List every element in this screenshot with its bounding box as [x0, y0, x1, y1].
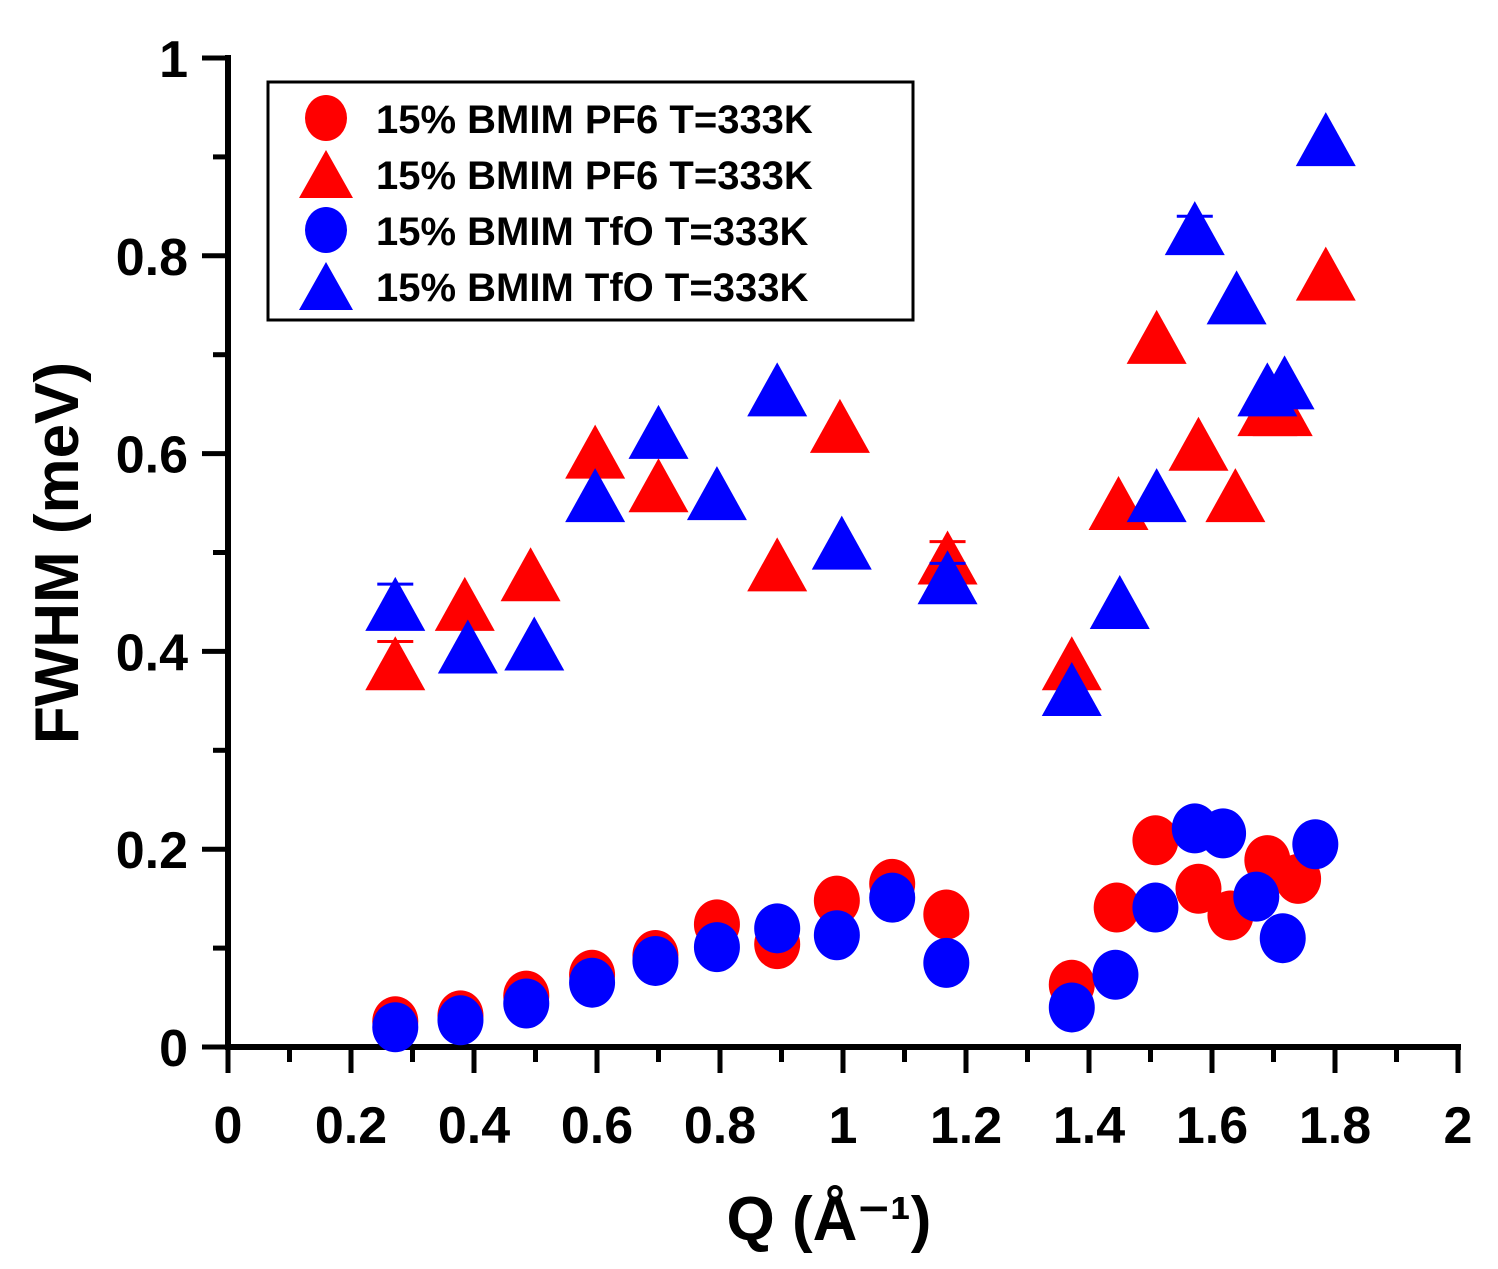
- series-circle-2: [372, 803, 1338, 1052]
- legend-label: 15% BMIM PF6 T=333K: [376, 154, 813, 198]
- legend-label: 15% BMIM TfO T=333K: [376, 266, 808, 310]
- x-tick-label: 0.6: [561, 1097, 633, 1155]
- data-point-circle: [1132, 815, 1178, 865]
- x-tick-label: 1.6: [1176, 1097, 1248, 1155]
- x-axis-title: Q (Å⁻¹): [727, 1185, 932, 1254]
- data-point-circle: [569, 958, 615, 1008]
- y-tick-label: 0.2: [116, 822, 188, 880]
- data-point-circle: [1233, 872, 1279, 922]
- data-point-circle: [1092, 950, 1138, 1000]
- data-point-circle: [1260, 913, 1306, 963]
- data-point-triangle: [1165, 201, 1225, 255]
- data-point-triangle: [629, 458, 689, 512]
- data-point-circle: [923, 889, 969, 939]
- data-point-triangle: [812, 516, 872, 570]
- legend-label: 15% BMIM PF6 T=333K: [376, 98, 813, 142]
- y-tick-label: 0.4: [116, 624, 188, 682]
- data-point-triangle: [365, 636, 425, 690]
- data-point-circle: [1049, 982, 1095, 1032]
- data-point-circle: [372, 1002, 418, 1052]
- data-point-triangle: [1205, 468, 1265, 522]
- data-point-triangle: [365, 577, 425, 631]
- data-point-circle: [814, 910, 860, 960]
- x-tick-label: 1: [829, 1097, 858, 1155]
- y-axis-title: FWHM (meV): [23, 362, 92, 744]
- x-tick-label: 0.2: [315, 1097, 387, 1155]
- data-point-circle: [1292, 819, 1338, 869]
- x-tick-label: 0.8: [684, 1097, 756, 1155]
- legend-marker-circle: [305, 95, 347, 141]
- data-point-triangle: [1296, 247, 1356, 301]
- legend-marker-circle: [305, 207, 347, 253]
- y-axis-tick-labels: 00.20.40.60.81: [116, 31, 188, 1078]
- x-tick-label: 2: [1444, 1097, 1473, 1155]
- data-point-triangle: [629, 405, 689, 459]
- data-point-triangle: [504, 616, 564, 670]
- x-tick-label: 0.4: [438, 1097, 510, 1155]
- data-point-triangle: [501, 547, 561, 601]
- data-point-circle: [869, 873, 915, 923]
- data-point-circle: [754, 903, 800, 953]
- x-tick-label: 1.2: [930, 1097, 1002, 1155]
- data-point-triangle: [435, 577, 495, 631]
- x-tick-label: 1.8: [1299, 1097, 1371, 1155]
- y-axis-ticks: [202, 58, 228, 1047]
- data-point-triangle: [687, 466, 747, 520]
- scatter-plot: 00.20.40.60.811.21.41.61.82 00.20.40.60.…: [0, 0, 1498, 1269]
- data-point-triangle: [1127, 468, 1187, 522]
- x-axis-tick-labels: 00.20.40.60.811.21.41.61.82: [214, 1097, 1473, 1155]
- data-point-triangle: [747, 362, 807, 416]
- data-point-triangle: [810, 399, 870, 453]
- data-point-circle: [923, 938, 969, 988]
- x-tick-label: 0: [214, 1097, 243, 1155]
- x-tick-label: 1.4: [1053, 1097, 1125, 1155]
- data-point-circle: [1200, 808, 1246, 858]
- y-tick-label: 0.6: [116, 427, 188, 485]
- data-point-triangle: [1168, 417, 1228, 471]
- chart-legend: 15% BMIM PF6 T=333K15% BMIM PF6 T=333K15…: [268, 82, 913, 320]
- data-point-circle: [437, 995, 483, 1045]
- legend-label: 15% BMIM TfO T=333K: [376, 210, 808, 254]
- data-point-triangle: [747, 537, 807, 591]
- data-point-circle: [503, 978, 549, 1028]
- data-point-triangle: [1127, 310, 1187, 364]
- data-point-triangle: [1207, 270, 1267, 324]
- y-tick-label: 0.8: [116, 229, 188, 287]
- data-point-circle: [1132, 883, 1178, 933]
- chart-figure: 00.20.40.60.811.21.41.61.82 00.20.40.60.…: [0, 0, 1498, 1269]
- y-tick-label: 0: [159, 1020, 188, 1078]
- data-point-triangle: [1296, 112, 1356, 166]
- y-tick-label: 1: [159, 31, 188, 89]
- data-point-triangle: [1090, 575, 1150, 629]
- data-point-circle: [632, 936, 678, 986]
- data-point-circle: [694, 922, 740, 972]
